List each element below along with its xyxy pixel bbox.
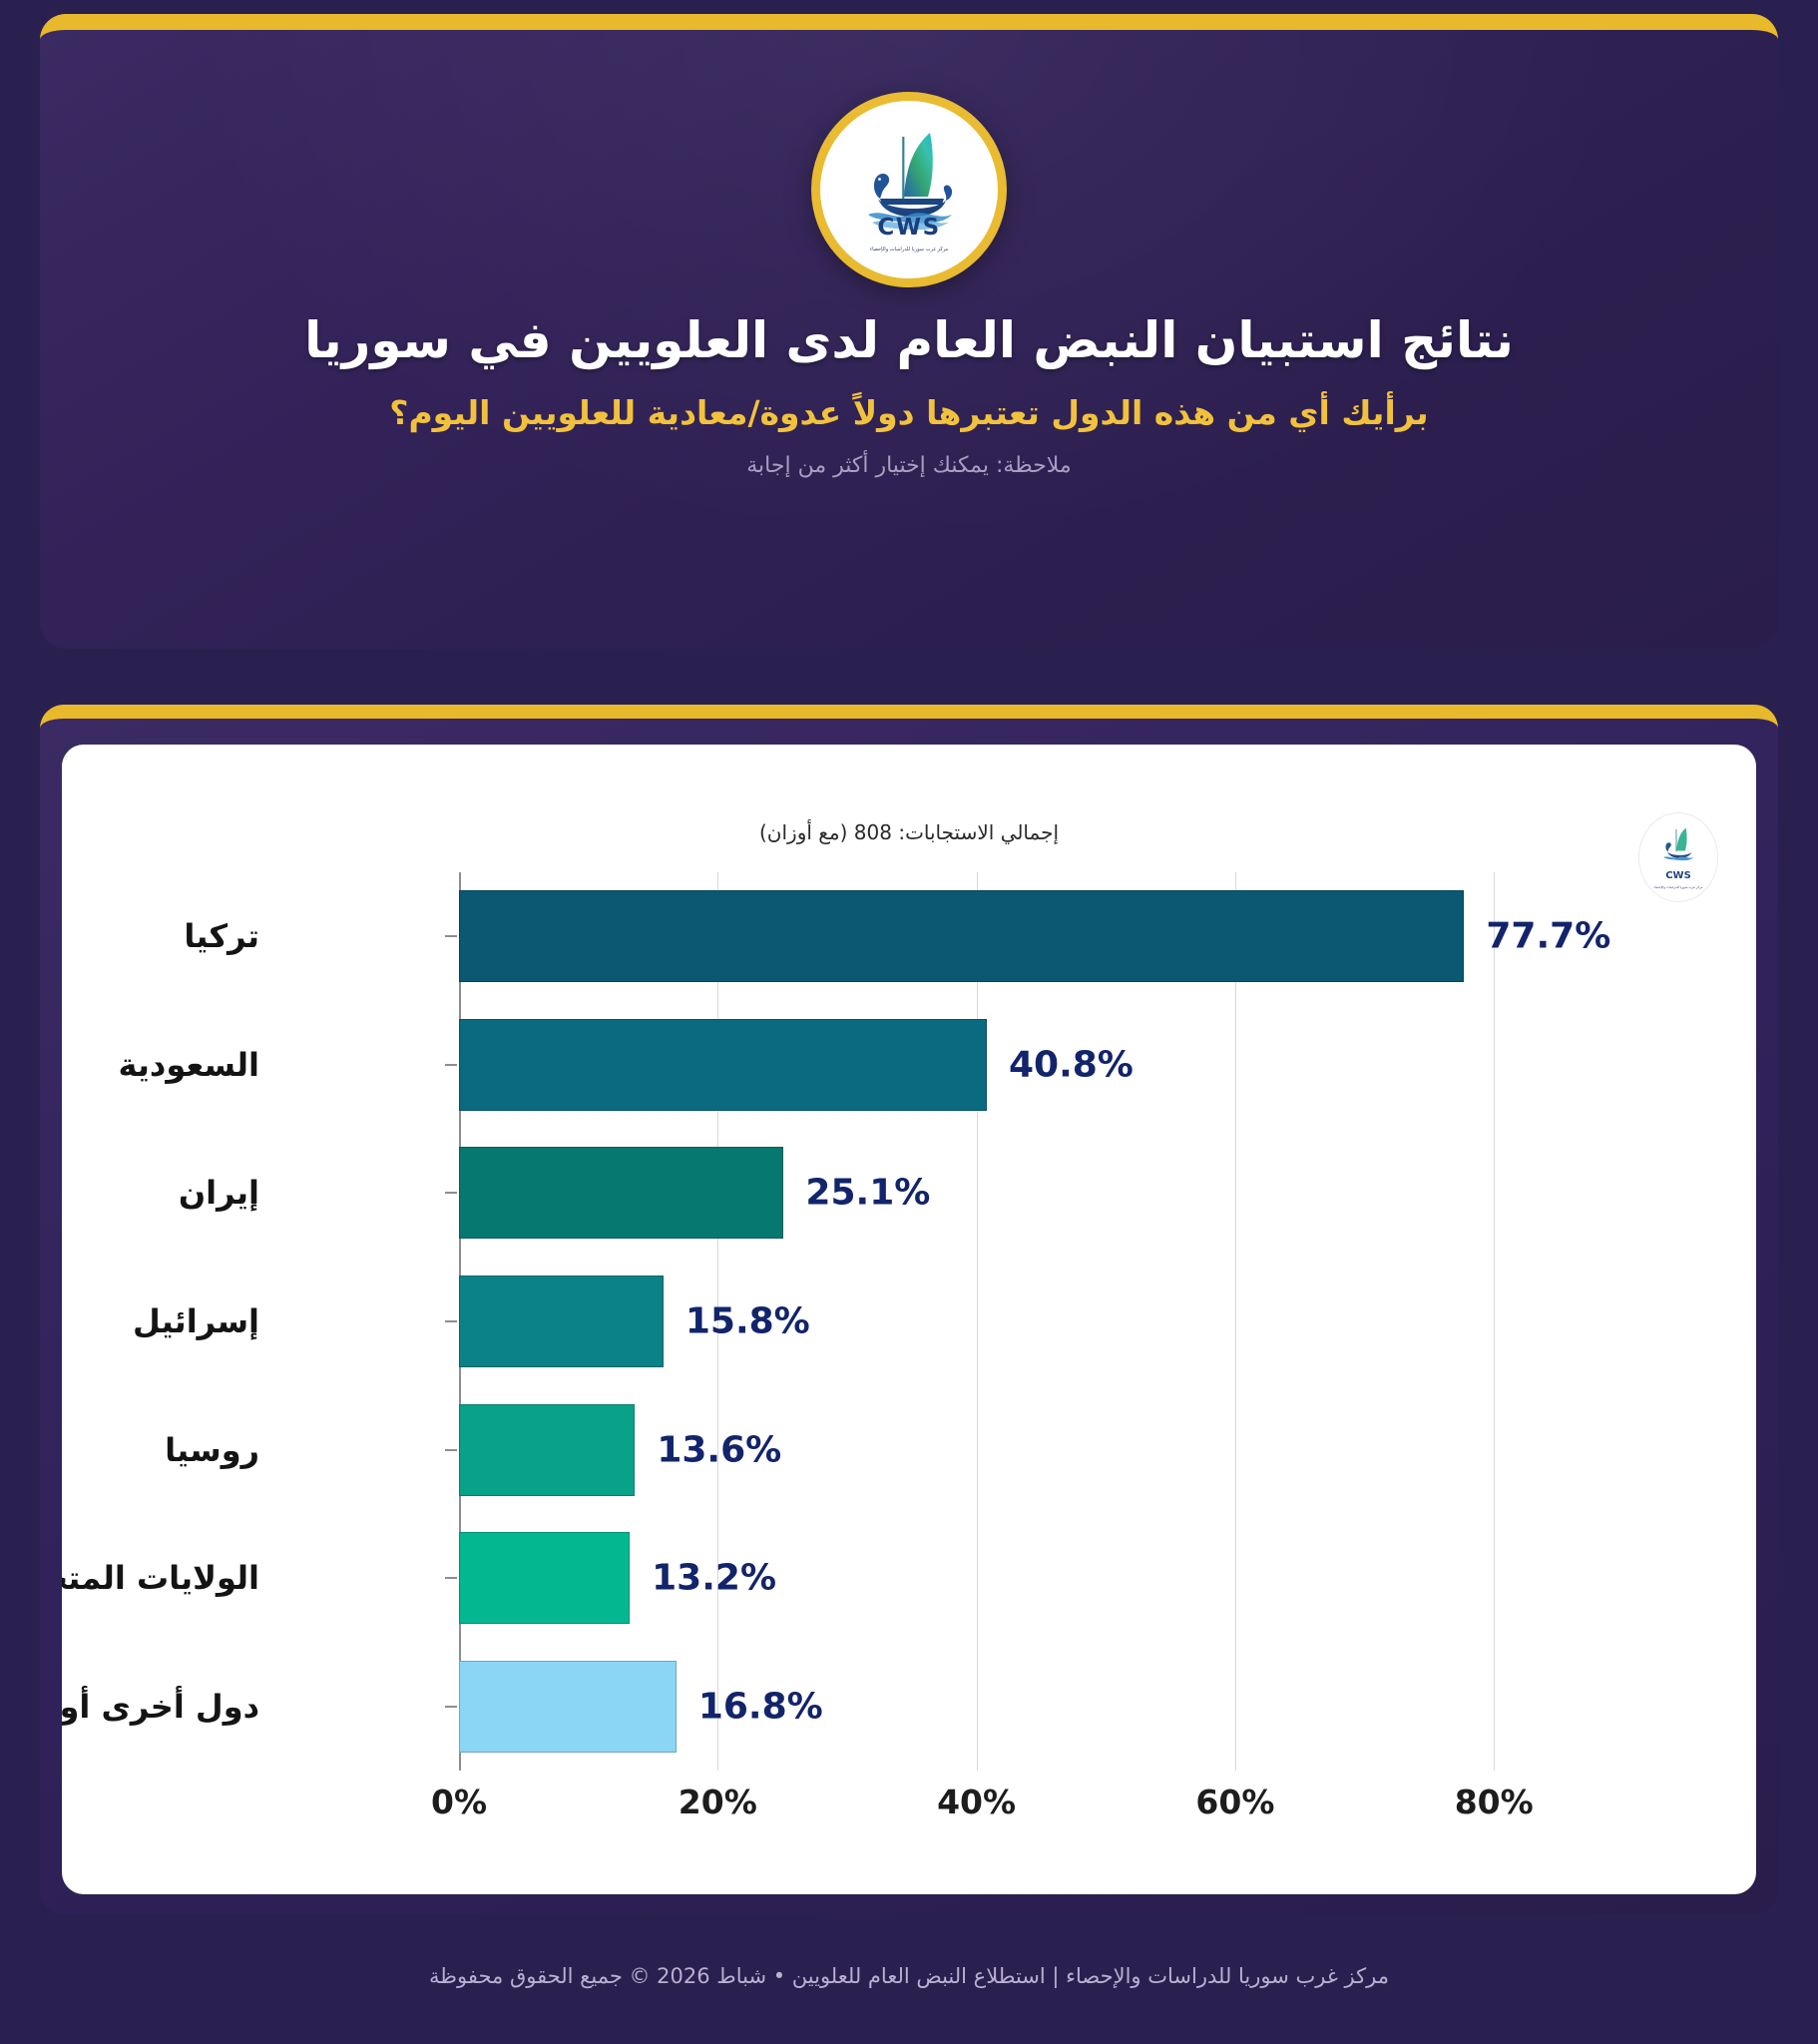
bar-row[interactable]: الولايات المتحدة13.2% xyxy=(459,1532,1572,1624)
sailing-ship-icon xyxy=(834,115,984,264)
bar-value-label: 13.6% xyxy=(657,1429,781,1470)
y-axis-tick xyxy=(445,1706,457,1708)
bar-row[interactable]: روسيا13.6% xyxy=(459,1404,1572,1496)
bar-value-label: 40.8% xyxy=(1009,1044,1134,1085)
page-title: نتائج استبيان النبض العام لدى العلويين ف… xyxy=(40,311,1778,369)
bar-row[interactable]: تركيا77.7% xyxy=(459,890,1572,982)
organization-logo-badge: CWS مركز غرب سوريا للدراسات والإحصاء xyxy=(811,92,1007,287)
bar[interactable] xyxy=(459,1532,630,1624)
bar[interactable] xyxy=(459,1276,664,1367)
logo-artwork: CWS مركز غرب سوريا للدراسات والإحصاء xyxy=(834,115,984,264)
bar-value-label: 16.8% xyxy=(698,1686,823,1727)
chart-logo-subtext: مركز غرب سوريا للدراسات والإحصاء xyxy=(1639,885,1717,889)
y-axis-tick xyxy=(445,1192,457,1194)
bar[interactable] xyxy=(459,1404,635,1496)
category-label: روسيا xyxy=(165,1431,259,1469)
bar-value-label: 77.7% xyxy=(1486,916,1610,957)
bar-value-label: 15.8% xyxy=(685,1301,810,1342)
header-card: CWS مركز غرب سوريا للدراسات والإحصاء نتا… xyxy=(40,14,1778,649)
bar-row[interactable]: السعودية40.8% xyxy=(459,1019,1572,1111)
bar-value-label: 25.1% xyxy=(805,1173,930,1214)
bar-row[interactable]: إيران25.1% xyxy=(459,1147,1572,1239)
footer-credits: مركز غرب سوريا للدراسات والإحصاء | استطل… xyxy=(0,1964,1818,1988)
x-axis-tick-label: 20% xyxy=(679,1783,757,1821)
bar[interactable] xyxy=(459,1661,677,1753)
bar-value-label: 13.2% xyxy=(652,1558,776,1599)
chart-subtitle: إجمالي الاستجابات: 808 (مع أوزان) xyxy=(62,820,1756,844)
y-axis-tick xyxy=(445,1064,457,1066)
y-axis-tick xyxy=(445,935,457,937)
bar-row[interactable]: دول أخرى أو لا أعرف16.8% xyxy=(459,1661,1572,1753)
logo-wordmark: CWS xyxy=(834,215,984,241)
bar[interactable] xyxy=(459,890,1464,982)
x-axis-tick-label: 80% xyxy=(1455,1783,1534,1821)
bar[interactable] xyxy=(459,1019,987,1111)
chart-card-frame: CWS مركز غرب سوريا للدراسات والإحصاء إجم… xyxy=(40,705,1778,1914)
category-label: الولايات المتحدة xyxy=(62,1559,259,1597)
x-axis-tick-label: 60% xyxy=(1195,1783,1274,1821)
y-axis-tick xyxy=(445,1449,457,1451)
x-axis-tick-label: 40% xyxy=(937,1783,1016,1821)
logo-subtext: مركز غرب سوريا للدراسات والإحصاء xyxy=(836,247,983,253)
y-axis-tick xyxy=(445,1577,457,1579)
survey-question: برأيك أي من هذه الدول تعتبرها دولاً عدوة… xyxy=(40,391,1778,436)
x-axis-tick-label: 0% xyxy=(431,1783,487,1821)
category-label: إيران xyxy=(179,1174,259,1212)
chart-card: CWS مركز غرب سوريا للدراسات والإحصاء إجم… xyxy=(62,745,1756,1894)
category-label: دول أخرى أو لا أعرف xyxy=(62,1688,259,1726)
survey-note: ملاحظة: يمكنك إختيار أكثر من إجابة xyxy=(40,453,1778,478)
bar-row[interactable]: إسرائيل15.8% xyxy=(459,1276,1572,1367)
bar-chart-plot-area: 0%20%40%60%80%تركيا77.7%السعودية40.8%إير… xyxy=(459,872,1572,1771)
y-axis-tick xyxy=(445,1320,457,1322)
category-label: إسرائيل xyxy=(133,1302,259,1340)
chart-logo-wordmark: CWS xyxy=(1639,870,1717,881)
category-label: السعودية xyxy=(118,1046,259,1084)
category-label: تركيا xyxy=(184,917,259,955)
bar[interactable] xyxy=(459,1147,783,1239)
infographic-root: CWS مركز غرب سوريا للدراسات والإحصاء نتا… xyxy=(0,0,1818,2044)
